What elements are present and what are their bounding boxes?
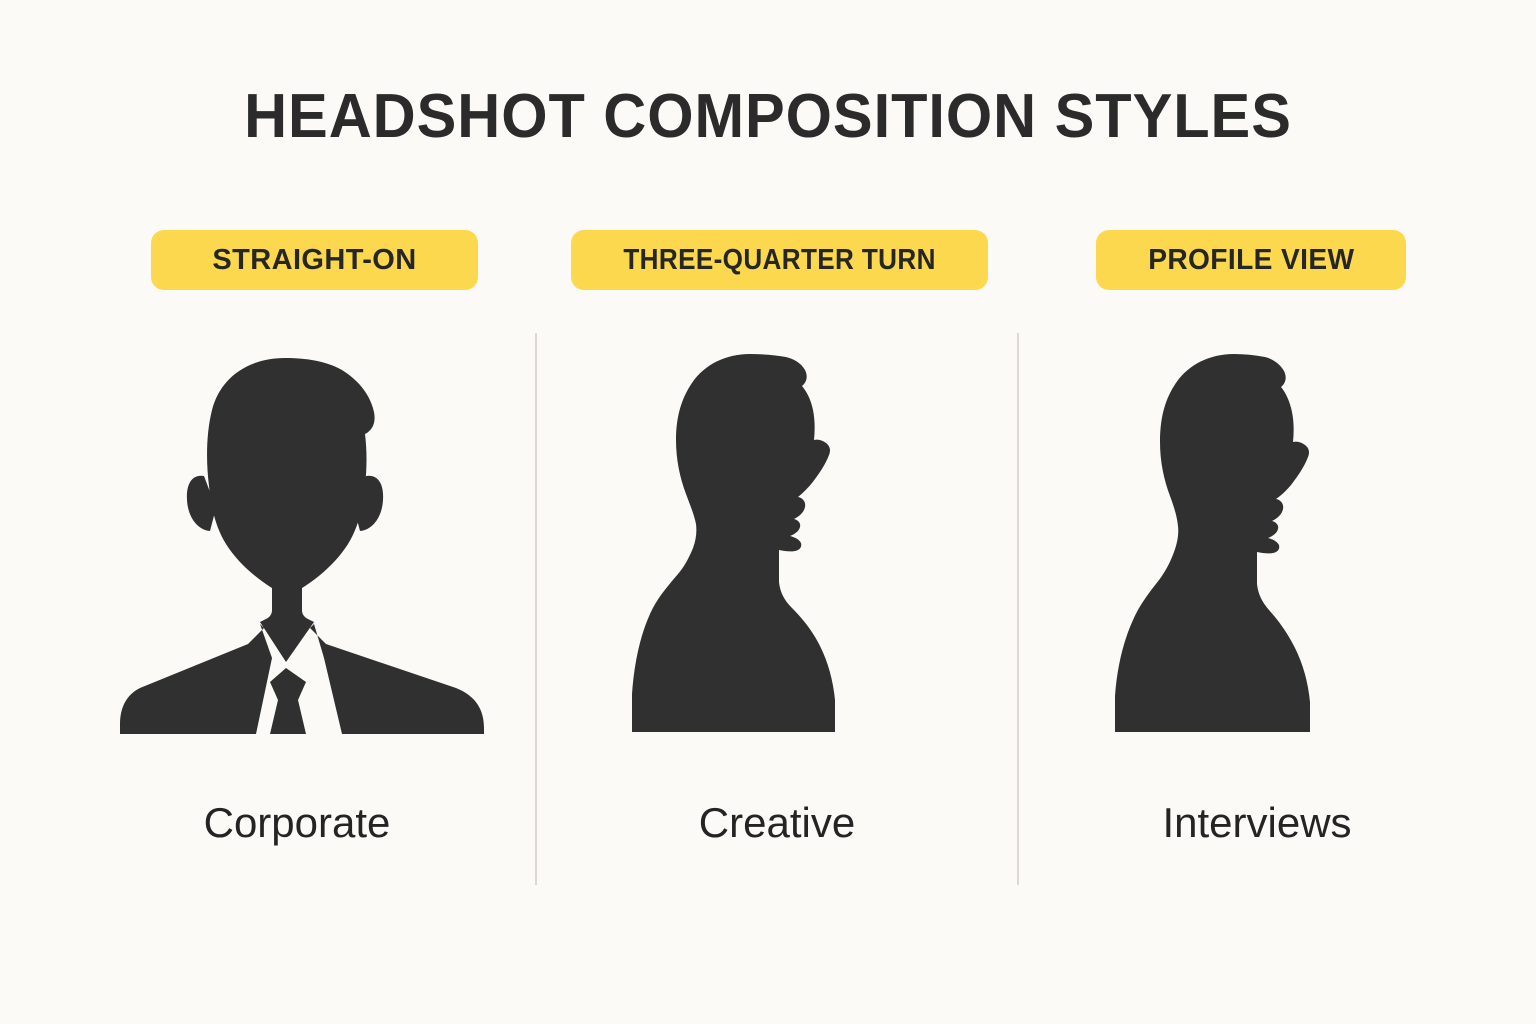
bust-silhouette-front-suit-tie-icon [120,358,508,734]
caption-interviews: Interviews [1018,800,1496,846]
page-title: HEADSHOT COMPOSITION STYLES [31,86,1506,148]
caption-creative: Creative [536,800,1018,846]
infographic-canvas: HEADSHOT COMPOSITION STYLES STRAIGHT-ON [0,0,1536,1024]
bust-silhouette-side-profile-icon [1112,352,1350,734]
badge-label: THREE-QUARTER TURN [623,246,935,275]
badge-label: STRAIGHT-ON [212,246,416,275]
caption-corporate: Corporate [58,800,536,846]
badge-profile-view[interactable]: PROFILE VIEW [1096,230,1406,290]
badge-straight-on[interactable]: STRAIGHT-ON [151,230,478,290]
bust-silhouette-three-quarter-profile-icon [632,352,870,734]
badge-label: PROFILE VIEW [1148,246,1354,275]
badge-three-quarter-turn[interactable]: THREE-QUARTER TURN [571,230,988,290]
